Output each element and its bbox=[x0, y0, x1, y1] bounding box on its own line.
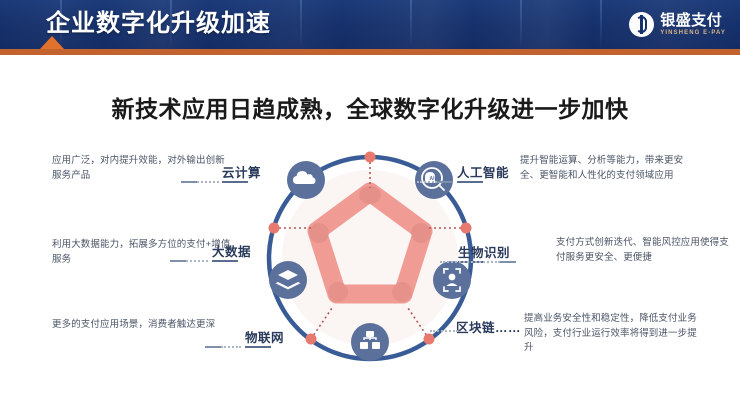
brand-name-en: YINSHENG E-PAY bbox=[660, 30, 726, 36]
brand-logo: 银盛支付 YINSHENG E-PAY bbox=[629, 12, 726, 37]
header-streak bbox=[410, 0, 412, 49]
header-streak bbox=[300, 0, 302, 49]
chevron-up-icon bbox=[40, 36, 64, 49]
node-artificial-intelligence[interactable]: AI bbox=[415, 161, 453, 199]
technology-diagram: AI bbox=[0, 140, 740, 380]
label-internet-of-things: 物联网 bbox=[245, 327, 284, 346]
yinsheng-circle-logo-icon bbox=[629, 12, 654, 37]
desc-cloud-computing: 应用广泛，对内提升效能，对外输出创新服务产品 bbox=[52, 154, 232, 183]
diagram-graphic: AI bbox=[248, 140, 492, 380]
label-underline bbox=[245, 346, 271, 348]
label-biometric-recognition: 生物识别 bbox=[458, 242, 510, 261]
connector-biometric-recognition bbox=[440, 261, 516, 263]
accent-bar bbox=[0, 49, 740, 55]
desc-blockchain: 提高业务安全性和稳定性，降低支付业务风险，支付行业运行效率将得到进一步提升 bbox=[524, 312, 704, 356]
node-internet-of-things[interactable] bbox=[351, 323, 389, 361]
label-artificial-intelligence: 人工智能 bbox=[457, 162, 509, 181]
desc-internet-of-things: 更多的支付应用场景，消费者触达更深 bbox=[52, 318, 232, 333]
node-biometric-recognition[interactable] bbox=[433, 261, 471, 299]
main-heading: 新技术应用日趋成熟，全球数字化升级进一步加快 bbox=[0, 90, 740, 124]
label-blockchain: 区块链…… bbox=[456, 317, 521, 336]
desc-artificial-intelligence: 提升智能运算、分析等能力，带来更安全、更智能和人性化的支付领域应用 bbox=[520, 154, 700, 183]
node-big-data[interactable] bbox=[269, 261, 307, 299]
desc-big-data: 利用大数据能力，拓展多方位的支付+增值服务 bbox=[52, 238, 232, 267]
label-underline bbox=[457, 181, 483, 183]
header-streak bbox=[600, 0, 602, 49]
header-streak bbox=[520, 0, 522, 49]
node-cloud-computing[interactable] bbox=[287, 161, 325, 199]
connector-internet-of-things bbox=[205, 346, 241, 348]
connector-blockchain bbox=[430, 330, 458, 332]
brand-name-cn: 银盛支付 bbox=[660, 13, 726, 28]
page-title: 企业数字化升级加速 bbox=[46, 9, 271, 39]
page-header: 企业数字化升级加速 银盛支付 YINSHENG E-PAY bbox=[0, 0, 740, 49]
connector-artificial-intelligence bbox=[417, 181, 453, 183]
desc-biometric-recognition: 支付方式创新迭代、智能风控应用使得支付服务更安全、更便捷 bbox=[556, 236, 736, 265]
